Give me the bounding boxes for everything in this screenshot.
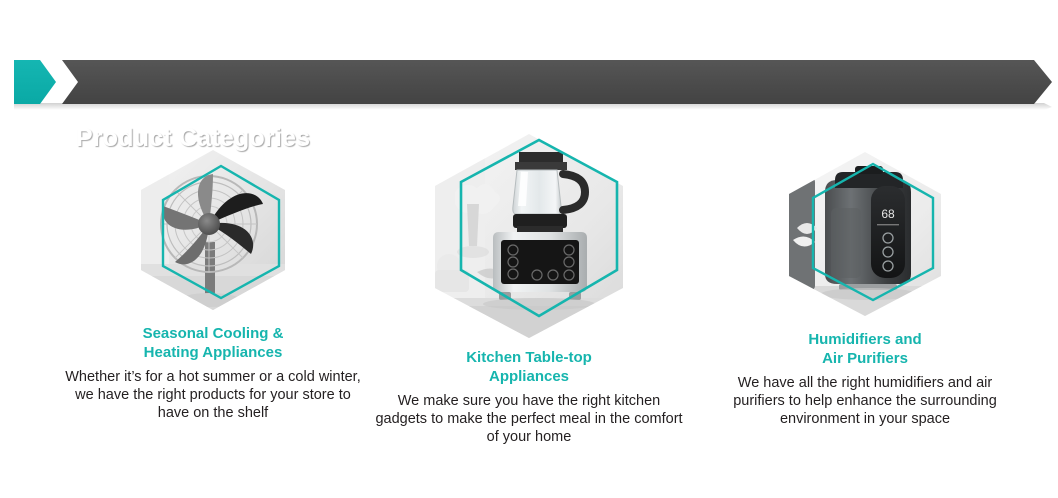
category-card-seasonal-cooling-heating[interactable]: Seasonal Cooling & Heating Appliances Wh… — [48, 130, 378, 422]
page-header-banner: Product Categories — [0, 58, 1058, 110]
category-card-humidifiers-air-purifiers[interactable]: 68 Humidifiers and Air Purifiers — [700, 130, 1030, 428]
category-heading: Humidifiers and Air Purifiers — [700, 330, 1030, 368]
countertop-blender-icon — [425, 130, 633, 342]
banner-chevron — [14, 60, 56, 104]
category-heading: Seasonal Cooling & Heating Appliances — [48, 324, 378, 362]
category-image-frame: 68 — [781, 148, 949, 320]
category-description-line1: We have all the right humidifiers and ai… — [738, 375, 992, 391]
category-heading-line2: Appliances — [489, 368, 569, 385]
category-heading: Kitchen Table-top Appliances — [368, 348, 690, 386]
category-description-line1: We make sure you have the right kitchen — [398, 393, 660, 409]
category-description-line2: purifiers to help enhance the surroundin… — [733, 393, 997, 409]
category-description: We have all the right humidifiers and ai… — [700, 374, 1030, 428]
svg-text:68: 68 — [881, 207, 895, 221]
category-heading-line1: Kitchen Table-top — [466, 349, 592, 366]
humidifier-icon: 68 — [781, 148, 949, 320]
banner-shape — [0, 58, 1058, 110]
category-heading-line1: Humidifiers and — [808, 331, 921, 348]
category-description-line1: Whether it’s for a hot summer or a cold — [65, 369, 315, 385]
category-description-line2: gadgets to make the perfect meal in the — [375, 411, 630, 427]
category-heading-line2: Air Purifiers — [822, 350, 908, 367]
category-heading-line1: Seasonal Cooling & — [143, 325, 284, 342]
category-card-kitchen-table-top[interactable]: Kitchen Table-top Appliances We make sur… — [368, 130, 690, 446]
banner-shadow — [14, 103, 1052, 110]
category-image-frame — [425, 130, 633, 342]
category-description: Whether it’s for a hot summer or a cold … — [48, 368, 378, 422]
category-description-line3: environment in your space — [780, 411, 950, 427]
category-description: We make sure you have the right kitchen … — [368, 392, 690, 446]
category-image-frame — [133, 146, 293, 314]
pedestal-fan-icon — [133, 146, 293, 314]
category-heading-line2: Heating Appliances — [144, 344, 283, 361]
banner-bar — [62, 60, 1052, 104]
product-categories-row: Seasonal Cooling & Heating Appliances Wh… — [0, 130, 1058, 460]
